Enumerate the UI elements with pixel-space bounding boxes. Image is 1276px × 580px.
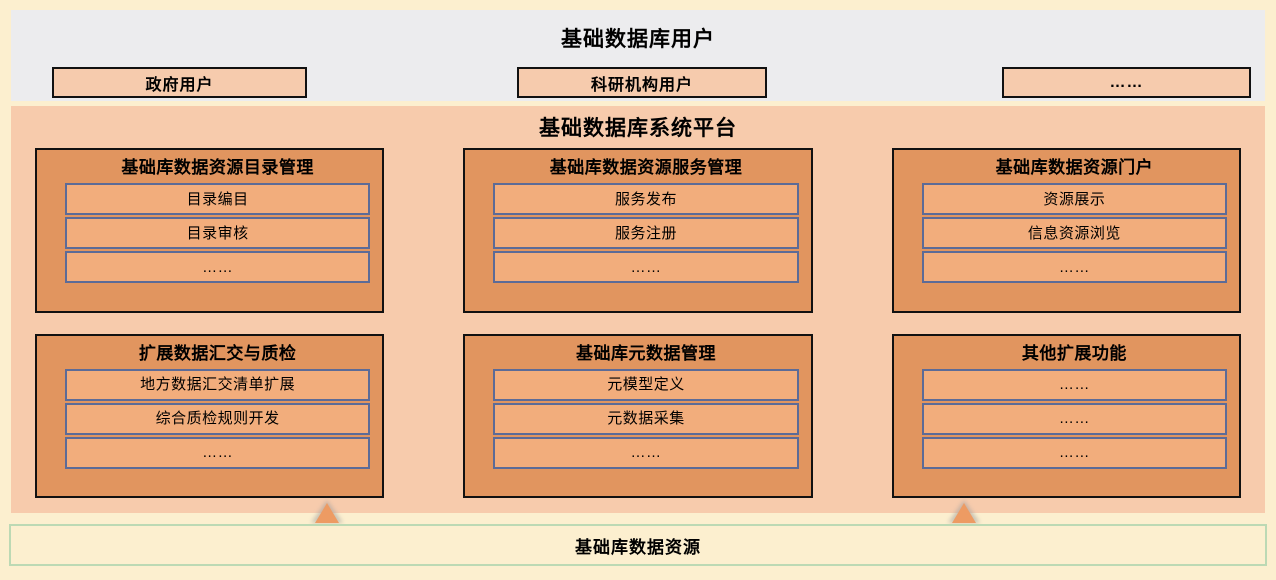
module-card-title: 其他扩展功能 — [906, 343, 1227, 364]
module-item[interactable]: 元数据采集 — [493, 403, 798, 435]
platform-title: 基础数据库系统平台 — [11, 118, 1265, 139]
module-card-other-extensions[interactable]: 其他扩展功能 …… …… …… — [892, 334, 1241, 499]
module-item[interactable]: 服务注册 — [493, 217, 798, 249]
module-item[interactable]: 服务发布 — [493, 183, 798, 215]
module-item-list: …… …… …… — [906, 369, 1227, 469]
user-box-label: …… — [1110, 74, 1144, 92]
module-item[interactable]: 元模型定义 — [493, 369, 798, 401]
platform-panel: 基础数据库系统平台 基础库数据资源目录管理 目录编目 目录审核 …… 基础库数据… — [11, 106, 1265, 513]
module-item[interactable]: …… — [922, 369, 1227, 401]
module-item[interactable]: 资源展示 — [922, 183, 1227, 215]
module-item[interactable]: …… — [922, 437, 1227, 469]
module-item[interactable]: …… — [922, 251, 1227, 283]
module-item-list: 元模型定义 元数据采集 …… — [477, 369, 798, 469]
module-card-service-management[interactable]: 基础库数据资源服务管理 服务发布 服务注册 …… — [463, 148, 812, 313]
module-item[interactable]: …… — [493, 251, 798, 283]
user-box-others[interactable]: …… — [1002, 67, 1251, 98]
users-band: 基础数据库用户 政府用户 科研机构用户 …… — [11, 10, 1265, 101]
user-box-label: 政府用户 — [145, 71, 213, 95]
user-box-government[interactable]: 政府用户 — [52, 67, 307, 98]
module-item-list: 地方数据汇交清单扩展 综合质检规则开发 …… — [49, 369, 370, 469]
module-grid: 基础库数据资源目录管理 目录编目 目录审核 …… 基础库数据资源服务管理 服务发… — [35, 148, 1241, 498]
module-card-resource-portal[interactable]: 基础库数据资源门户 资源展示 信息资源浏览 …… — [892, 148, 1241, 313]
module-card-metadata-management[interactable]: 基础库元数据管理 元模型定义 元数据采集 …… — [463, 334, 812, 499]
module-item[interactable]: …… — [922, 403, 1227, 435]
module-card-title: 基础库数据资源目录管理 — [49, 157, 370, 178]
users-band-title: 基础数据库用户 — [11, 29, 1265, 50]
module-item[interactable]: 综合质检规则开发 — [65, 403, 370, 435]
resources-band-title: 基础库数据资源 — [575, 533, 701, 558]
resources-band: 基础库数据资源 — [9, 524, 1267, 566]
module-item[interactable]: 信息资源浏览 — [922, 217, 1227, 249]
module-card-data-submission-quality[interactable]: 扩展数据汇交与质检 地方数据汇交清单扩展 综合质检规则开发 …… — [35, 334, 384, 499]
module-item[interactable]: …… — [65, 251, 370, 283]
module-card-title: 基础库数据资源门户 — [906, 157, 1227, 178]
user-box-research-institution[interactable]: 科研机构用户 — [517, 67, 767, 98]
module-item[interactable]: 目录编目 — [65, 183, 370, 215]
module-card-catalog-management[interactable]: 基础库数据资源目录管理 目录编目 目录审核 …… — [35, 148, 384, 313]
module-item-list: 服务发布 服务注册 …… — [477, 183, 798, 283]
module-card-title: 扩展数据汇交与质检 — [49, 343, 370, 364]
module-item[interactable]: …… — [493, 437, 798, 469]
module-item[interactable]: …… — [65, 437, 370, 469]
module-card-title: 基础库元数据管理 — [477, 343, 798, 364]
user-box-label: 科研机构用户 — [591, 71, 693, 95]
module-item-list: 目录编目 目录审核 …… — [49, 183, 370, 283]
module-item[interactable]: 目录审核 — [65, 217, 370, 249]
module-card-title: 基础库数据资源服务管理 — [477, 157, 798, 178]
module-item-list: 资源展示 信息资源浏览 …… — [906, 183, 1227, 283]
module-item[interactable]: 地方数据汇交清单扩展 — [65, 369, 370, 401]
